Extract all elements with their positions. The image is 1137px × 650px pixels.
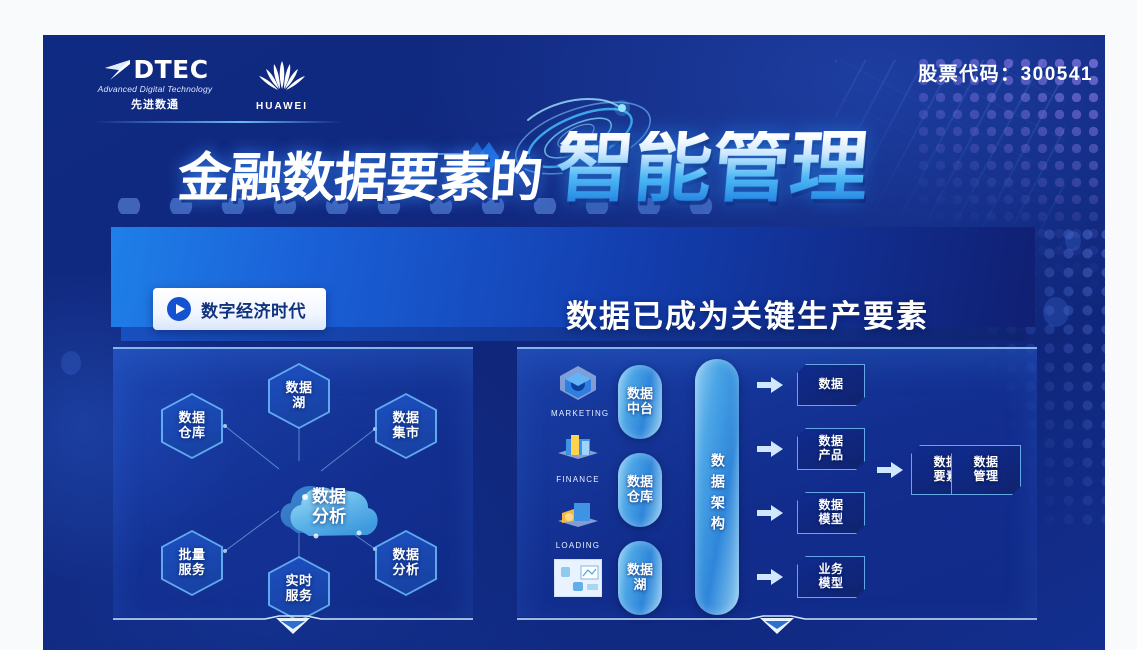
node-label-line2: 服务 bbox=[178, 563, 205, 578]
source-caption: MARKETING bbox=[551, 409, 605, 418]
node-realtime-service[interactable]: 实时 服务 bbox=[268, 556, 330, 622]
section-headline: 数据已成为关键生产要素 bbox=[566, 291, 929, 336]
logo-row: DTEC Advanced Digital Technology 先进数通 bbox=[92, 57, 318, 112]
output-label-line1: 数据 bbox=[818, 435, 843, 449]
page-title: 金融数据要素的 智能管理 bbox=[178, 131, 868, 205]
node-data-warehouse[interactable]: 数据 仓库 bbox=[161, 393, 223, 459]
node-data-mart[interactable]: 数据 集市 bbox=[375, 393, 437, 459]
section-tag-label: 数字经济时代 bbox=[201, 297, 306, 322]
marketing-cube-icon bbox=[554, 390, 602, 407]
flow-arrow-icon bbox=[757, 505, 783, 521]
cloud-center-label: 数据 分析 bbox=[275, 487, 383, 526]
section-tag-chip[interactable]: 数字经济时代 bbox=[153, 288, 326, 330]
platform-label-line2: 中台 bbox=[627, 402, 653, 417]
left-panel-chevron-footer bbox=[113, 615, 473, 637]
huawei-wordmark: HUAWEI bbox=[246, 101, 318, 112]
output-data-model[interactable]: 数据 模型 bbox=[797, 492, 865, 534]
platform-label-line1: 数据 bbox=[627, 387, 653, 402]
output-data[interactable]: 数据 bbox=[797, 364, 865, 406]
final-label-line2: 管理 bbox=[973, 470, 998, 484]
node-label-line1: 数据 bbox=[392, 411, 419, 426]
source-marketing[interactable]: MARKETING bbox=[551, 363, 605, 418]
data-architecture-pillar[interactable]: 数据架构 bbox=[695, 359, 739, 615]
page-title-part-two: 智能管理 bbox=[553, 131, 871, 205]
right-diagram-panel: MARKETING FINANCE bbox=[517, 347, 1037, 617]
dtec-wordmark: DTEC bbox=[133, 57, 208, 82]
data-architecture-label: 数据架构 bbox=[709, 453, 725, 537]
background-bubble bbox=[1043, 297, 1069, 327]
platform-label-line2: 湖 bbox=[627, 578, 653, 593]
loading-box-icon bbox=[554, 522, 602, 539]
dtec-chinese-name: 先进数通 bbox=[92, 96, 218, 112]
node-label-line1: 实时 bbox=[285, 574, 312, 589]
output-label-line2: 产品 bbox=[818, 449, 843, 463]
flow-arrow-icon bbox=[757, 441, 783, 457]
dtec-arrow-mark-icon bbox=[101, 58, 131, 82]
background-bubble bbox=[1065, 231, 1081, 251]
platform-label-line1: 数据 bbox=[627, 475, 653, 490]
source-dashboard-thumb[interactable] bbox=[554, 559, 602, 597]
flow-arrow-icon bbox=[757, 569, 783, 585]
flow-arrow-icon bbox=[757, 377, 783, 393]
stock-code-label: 股票代码：300541 bbox=[918, 59, 1093, 86]
page-title-part-one: 金融数据要素的 bbox=[176, 152, 544, 205]
right-panel-chevron-footer bbox=[517, 615, 1037, 637]
output-label-line1: 数据 bbox=[818, 378, 843, 392]
huawei-logo: HUAWEI bbox=[246, 57, 318, 112]
final-data-management[interactable]: 数据 管理 bbox=[951, 445, 1021, 495]
huawei-flower-icon bbox=[255, 80, 309, 97]
merge-arrow-icon bbox=[877, 462, 903, 478]
output-label-line1: 业务 bbox=[818, 563, 843, 577]
output-business-model[interactable]: 业务 模型 bbox=[797, 556, 865, 598]
source-caption: FINANCE bbox=[551, 475, 605, 484]
node-label-line2: 集市 bbox=[392, 426, 419, 441]
cloud-label-line1: 数据 bbox=[275, 487, 383, 507]
final-label-line1: 数据 bbox=[973, 456, 998, 470]
source-loading[interactable]: LOADING bbox=[551, 495, 605, 550]
output-data-product[interactable]: 数据 产品 bbox=[797, 428, 865, 470]
background-bubble bbox=[61, 351, 81, 375]
node-data-analysis[interactable]: 数据 分析 bbox=[375, 530, 437, 596]
platform-label-line2: 仓库 bbox=[627, 490, 653, 505]
output-label-line2: 模型 bbox=[818, 577, 843, 591]
output-label-line2: 模型 bbox=[818, 513, 843, 527]
node-label-line2: 仓库 bbox=[178, 426, 205, 441]
finance-server-icon bbox=[554, 456, 602, 473]
platform-label-line1: 数据 bbox=[627, 563, 653, 578]
source-finance[interactable]: FINANCE bbox=[551, 429, 605, 484]
node-label-line1: 数据 bbox=[285, 381, 312, 396]
node-label-line1: 数据 bbox=[178, 411, 205, 426]
dtec-tagline: Advanced Digital Technology bbox=[92, 84, 218, 94]
node-batch-service[interactable]: 批量 服务 bbox=[161, 530, 223, 596]
node-label-line2: 湖 bbox=[292, 396, 306, 411]
dtec-logo: DTEC Advanced Digital Technology 先进数通 bbox=[92, 57, 218, 112]
logo-underline-decoration bbox=[92, 121, 342, 123]
node-label-line2: 服务 bbox=[285, 589, 312, 604]
source-caption: LOADING bbox=[551, 541, 605, 550]
platform-data-midend[interactable]: 数据 中台 bbox=[618, 365, 662, 439]
node-data-lake[interactable]: 数据 湖 bbox=[268, 363, 330, 429]
node-label-line1: 批量 bbox=[178, 548, 205, 563]
slide-canvas: DTEC Advanced Digital Technology 先进数通 bbox=[43, 35, 1105, 650]
play-icon bbox=[167, 297, 191, 321]
platform-data-lake[interactable]: 数据 湖 bbox=[618, 541, 662, 615]
cloud-label-line2: 分析 bbox=[275, 507, 383, 527]
platform-data-warehouse[interactable]: 数据 仓库 bbox=[618, 453, 662, 527]
node-label-line2: 分析 bbox=[392, 563, 419, 578]
output-label-line1: 数据 bbox=[818, 499, 843, 513]
node-label-line1: 数据 bbox=[392, 548, 419, 563]
